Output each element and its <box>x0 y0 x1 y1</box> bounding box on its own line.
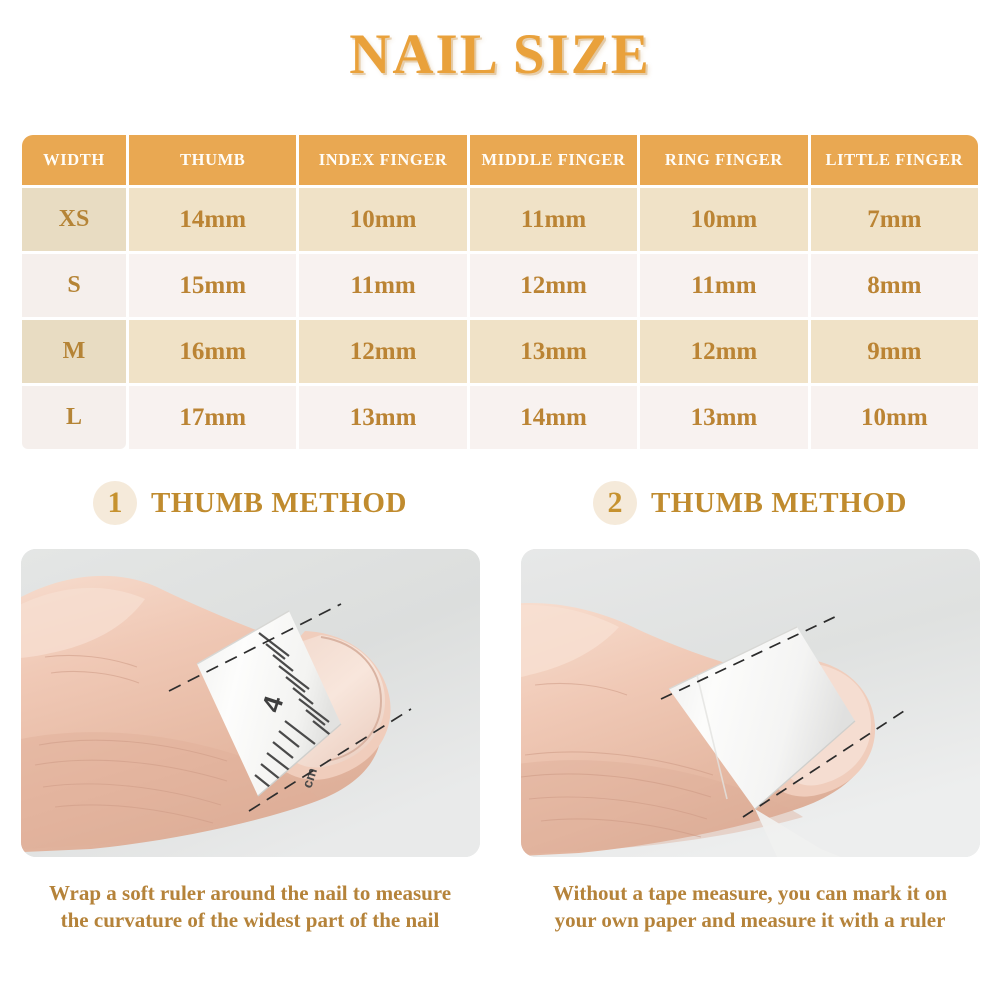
cell-index: 11mm <box>299 254 466 317</box>
nail-size-table: WIDTH THUMB INDEX FINGER MIDDLE FINGER R… <box>22 135 978 449</box>
cell-ring: 10mm <box>640 188 807 251</box>
cell-thumb: 17mm <box>129 386 296 449</box>
cell-size: L <box>22 386 126 449</box>
cell-middle: 14mm <box>470 386 637 449</box>
table-row: XS 14mm 10mm 11mm 10mm 7mm <box>22 188 978 251</box>
cell-little: 9mm <box>811 320 978 383</box>
cell-thumb: 16mm <box>129 320 296 383</box>
cell-little: 7mm <box>811 188 978 251</box>
table-row: S 15mm 11mm 12mm 11mm 8mm <box>22 254 978 317</box>
cell-little: 8mm <box>811 254 978 317</box>
method-2-heading: 2 THUMB METHOD <box>593 478 907 528</box>
method-1-caption-line-2: the curvature of the widest part of the … <box>15 907 485 934</box>
cell-thumb: 15mm <box>129 254 296 317</box>
method-1-title: THUMB METHOD <box>151 487 407 520</box>
thumb-ruler-illustration: 4 cm <box>21 549 480 857</box>
method-2: 2 THUMB METHOD <box>500 478 1000 935</box>
column-header-index-finger: INDEX FINGER <box>299 135 466 185</box>
column-header-little-finger: LITTLE FINGER <box>811 135 978 185</box>
column-header-thumb: THUMB <box>129 135 296 185</box>
cell-size: XS <box>22 188 126 251</box>
cell-little: 10mm <box>811 386 978 449</box>
cell-index: 12mm <box>299 320 466 383</box>
step-number-badge: 2 <box>593 481 637 525</box>
method-2-caption: Without a tape measure, you can mark it … <box>515 880 985 935</box>
page-title: NAIL SIZE <box>0 26 1000 83</box>
method-1: 1 THUMB METHOD <box>0 478 500 935</box>
column-header-ring-finger: RING FINGER <box>640 135 807 185</box>
method-1-caption: Wrap a soft ruler around the nail to mea… <box>15 880 485 935</box>
cell-ring: 13mm <box>640 386 807 449</box>
cell-middle: 11mm <box>470 188 637 251</box>
thumb-paper-illustration <box>521 549 980 857</box>
cell-ring: 12mm <box>640 320 807 383</box>
photo-thumb-with-paper-strip <box>521 549 980 857</box>
cell-middle: 13mm <box>470 320 637 383</box>
cell-thumb: 14mm <box>129 188 296 251</box>
cell-middle: 12mm <box>470 254 637 317</box>
method-2-title: THUMB METHOD <box>651 487 907 520</box>
step-number-badge: 1 <box>93 481 137 525</box>
photo-thumb-with-soft-ruler: 4 cm <box>21 549 480 857</box>
title-bar: NAIL SIZE <box>0 0 1000 96</box>
method-2-caption-line-2: your own paper and measure it with a rul… <box>515 907 985 934</box>
column-header-width: WIDTH <box>22 135 126 185</box>
methods-section: 1 THUMB METHOD <box>0 478 1000 935</box>
method-2-caption-line-1: Without a tape measure, you can mark it … <box>515 880 985 907</box>
table-row: M 16mm 12mm 13mm 12mm 9mm <box>22 320 978 383</box>
table-row: L 17mm 13mm 14mm 13mm 10mm <box>22 386 978 449</box>
cell-index: 13mm <box>299 386 466 449</box>
cell-ring: 11mm <box>640 254 807 317</box>
method-1-caption-line-1: Wrap a soft ruler around the nail to mea… <box>15 880 485 907</box>
column-header-middle-finger: MIDDLE FINGER <box>470 135 637 185</box>
cell-size: M <box>22 320 126 383</box>
cell-index: 10mm <box>299 188 466 251</box>
table-header-row: WIDTH THUMB INDEX FINGER MIDDLE FINGER R… <box>22 135 978 185</box>
method-1-heading: 1 THUMB METHOD <box>93 478 407 528</box>
cell-size: S <box>22 254 126 317</box>
